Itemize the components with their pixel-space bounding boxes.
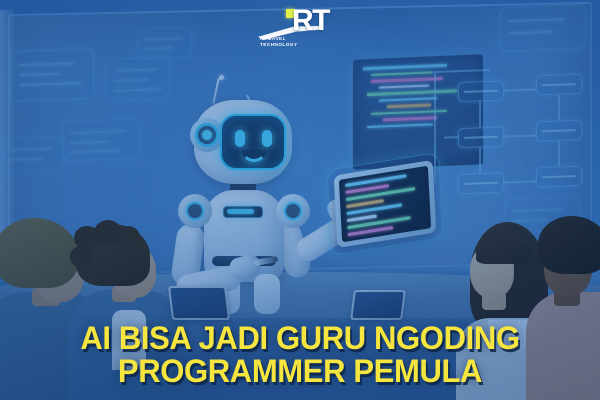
holo-panel-left-4: [138, 27, 192, 59]
holo-panel-left-1: [10, 49, 94, 102]
flow-node: [458, 173, 504, 195]
flow-node: [536, 74, 582, 96]
student-hair: [0, 218, 78, 288]
logo-subtitle-line1: RAMAVEL: [260, 36, 286, 41]
logo-subtitle: RAMAVEL TECHNOLOGY: [260, 36, 312, 48]
robot-antenna: [212, 78, 219, 104]
flow-arrow: [558, 95, 560, 121]
hair-curl: [70, 246, 92, 268]
code-line: [347, 214, 377, 222]
robot-ear-core: [202, 130, 212, 140]
flow-arrow: [504, 88, 536, 91]
robot-shoulder-light-right: [284, 202, 302, 220]
title-line-1: AI BISA JADI GURU NGODING: [80, 320, 519, 356]
holo-panel-left-5: [4, 137, 64, 173]
robot-leg-right: [254, 274, 280, 314]
student-hair-fringe: [476, 238, 530, 264]
robot-smile: [241, 149, 267, 162]
thumbnail-canvas: RT RAMAVEL TECHNOLOGY AI BISA JADI GURU …: [0, 0, 600, 400]
flow-node: [458, 81, 504, 103]
student-hair: [538, 216, 600, 274]
laptop-lid: [168, 286, 230, 320]
holo-panel-right-1: [500, 4, 586, 51]
brand-logo[interactable]: RT RAMAVEL TECHNOLOGY: [258, 6, 350, 50]
flow-arrow: [558, 141, 560, 167]
flow-node: [458, 127, 504, 149]
robot-face-screen: [220, 114, 286, 170]
logo-subtitle-line2: TECHNOLOGY: [260, 42, 297, 47]
holo-panel-left-2: [106, 57, 170, 101]
flow-arrow: [444, 136, 458, 138]
holo-panel-left-3: [62, 119, 140, 162]
flow-arrow: [479, 147, 481, 173]
code-tablet: [334, 160, 437, 248]
flow-node: [536, 120, 582, 142]
robot-eye-right: [262, 130, 272, 147]
page-title: AI BISA JADI GURU NGODING PROGRAMMER PEM…: [9, 322, 591, 388]
code-line: [387, 103, 431, 107]
robot-shoulder-light-left: [186, 202, 204, 220]
code-line: [367, 123, 433, 128]
code-line: [363, 64, 447, 70]
algorithm-flowchart: [430, 69, 600, 210]
flow-arrow: [504, 180, 536, 183]
title-line-2: PROGRAMMER PEMULA: [9, 355, 591, 388]
robot-chest-light: [227, 209, 254, 214]
flow-arrow: [504, 134, 536, 137]
flow-arrow: [479, 101, 481, 127]
laptop-screen: [352, 292, 403, 318]
code-line: [371, 71, 433, 76]
code-line: [379, 97, 437, 102]
laptop-screen: [170, 288, 228, 318]
laptop-lid: [350, 290, 406, 320]
ai-robot-teacher: [168, 78, 338, 308]
robot-antenna-tip: [219, 75, 224, 80]
flow-node: [536, 166, 582, 188]
robot-eye-left: [235, 130, 245, 147]
code-line: [379, 84, 429, 89]
hair-curl: [116, 226, 140, 248]
code-line: [383, 116, 437, 121]
logo-mark: RT: [292, 6, 329, 36]
